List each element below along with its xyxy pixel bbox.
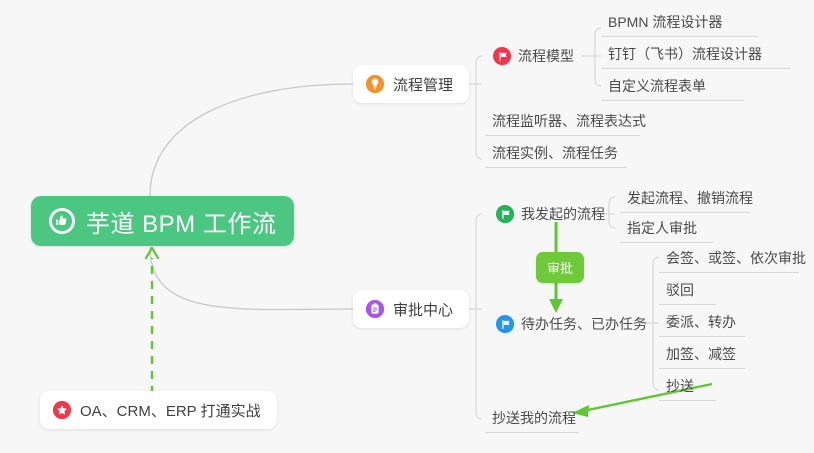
leaf-bpmn-designer-label: BPMN 流程设计器 — [608, 12, 722, 32]
node-cc-to-me[interactable]: 抄送我的流程 — [485, 403, 579, 433]
dashed-arrow-note-to-root — [146, 248, 158, 394]
thumbs-up-icon — [49, 208, 75, 234]
flag-icon — [496, 315, 514, 333]
branch-process-management-label: 流程管理 — [393, 74, 453, 95]
node-todo-done-label: 待办任务、已办任务 — [521, 314, 647, 334]
leaf-start-cancel-process[interactable]: 发起流程、撤销流程 — [620, 183, 750, 213]
link-root-to-process-management — [150, 84, 353, 196]
leaf-multi-approval[interactable]: 会签、或签、依次审批 — [659, 243, 799, 273]
leaf-dingtalk-designer[interactable]: 钉钉（飞书）流程设计器 — [601, 39, 791, 69]
branch-approval-center-label: 审批中心 — [393, 299, 453, 320]
leaf-delegate-transfer-label: 委派、转办 — [666, 312, 736, 332]
leaf-cc-label: 抄送 — [666, 376, 694, 396]
leaf-add-remove-sign-label: 加签、减签 — [666, 344, 736, 364]
node-process-instance[interactable]: 流程实例、流程任务 — [485, 138, 627, 168]
leaf-add-remove-sign[interactable]: 加签、减签 — [659, 339, 745, 369]
leaf-cc[interactable]: 抄送 — [659, 371, 716, 401]
node-cc-to-me-label: 抄送我的流程 — [492, 408, 576, 428]
leaf-custom-form-label: 自定义流程表单 — [608, 76, 706, 96]
clipboard-icon — [366, 300, 384, 318]
node-process-listener-label: 流程监听器、流程表达式 — [492, 111, 646, 131]
leaf-dingtalk-designer-label: 钉钉（飞书）流程设计器 — [608, 44, 762, 64]
bottom-note-node[interactable]: OA、CRM、ERP 打通实战 — [40, 391, 277, 429]
mindmap-canvas: 芋道 BPM 工作流 流程管理 流程模型 BPMN 流程设计器 钉钉（飞书 — [0, 0, 814, 453]
link-ac-bracket — [476, 214, 482, 419]
dashed-arrow-head — [146, 248, 158, 258]
leaf-start-cancel-process-label: 发起流程、撤销流程 — [627, 188, 753, 208]
approval-pill-label: 审批 — [547, 261, 573, 276]
link-pm-bracket — [476, 56, 482, 159]
link-root-to-approval-center — [150, 247, 353, 310]
flag-icon — [493, 47, 511, 65]
leaf-multi-approval-label: 会签、或签、依次审批 — [666, 248, 806, 268]
bottom-note-label: OA、CRM、ERP 打通实战 — [80, 400, 261, 421]
leaf-reject[interactable]: 驳回 — [659, 275, 716, 305]
leaf-bpmn-designer[interactable]: BPMN 流程设计器 — [601, 7, 758, 37]
flag-icon — [496, 205, 514, 223]
node-my-initiated[interactable]: 我发起的流程 — [492, 199, 614, 229]
approval-pill: 审批 — [536, 252, 584, 283]
lightbulb-icon — [366, 75, 384, 93]
leaf-assigned-approver-label: 指定人审批 — [627, 218, 697, 238]
leaf-reject-label: 驳回 — [666, 280, 694, 300]
leaf-custom-form[interactable]: 自定义流程表单 — [601, 71, 744, 101]
root-node[interactable]: 芋道 BPM 工作流 — [31, 196, 294, 246]
leaf-delegate-transfer[interactable]: 委派、转办 — [659, 307, 745, 337]
node-process-model[interactable]: 流程模型 — [489, 41, 583, 71]
node-process-instance-label: 流程实例、流程任务 — [492, 143, 618, 163]
branch-approval-center[interactable]: 审批中心 — [353, 290, 469, 328]
node-todo-done[interactable]: 待办任务、已办任务 — [492, 309, 656, 339]
node-process-listener[interactable]: 流程监听器、流程表达式 — [485, 106, 640, 136]
leaf-assigned-approver[interactable]: 指定人审批 — [620, 213, 713, 243]
node-my-initiated-label: 我发起的流程 — [521, 204, 605, 224]
root-node-label: 芋道 BPM 工作流 — [86, 204, 276, 239]
node-process-model-label: 流程模型 — [518, 46, 574, 66]
star-icon — [53, 401, 71, 419]
branch-process-management[interactable]: 流程管理 — [353, 65, 469, 103]
